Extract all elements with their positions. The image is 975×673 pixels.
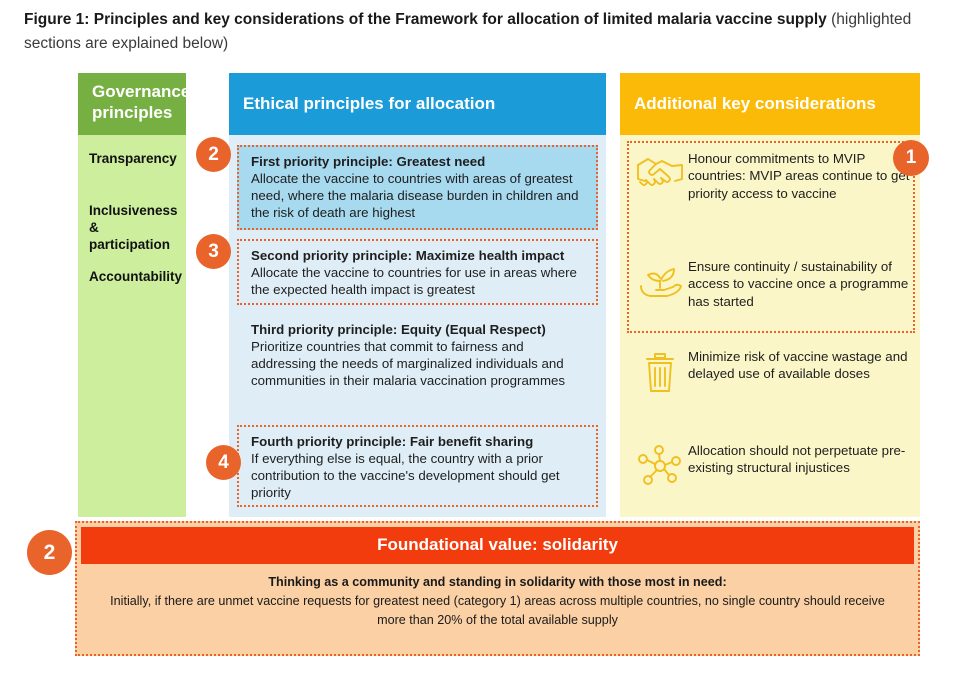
principle-title-fourth: Fourth priority principle: Fair benefit … [251,434,584,451]
consideration-item-injustices: Allocation should not perpetuate pre-exi… [632,440,912,488]
badge-3-second-principle: 3 [196,234,231,269]
principle-card-fourth: Fourth priority principle: Fair benefit … [237,425,598,507]
consideration-item-mvip: Honour commitments to MVIP countries: MV… [632,148,912,202]
principle-body-third: Prioritize countries that commit to fair… [251,339,565,388]
principle-card-third: Third priority principle: Equity (Equal … [237,315,598,413]
foundational-value-body: Thinking as a community and standing in … [81,564,914,629]
foundational-value-title: Foundational value: solidarity [81,527,914,564]
governance-item-inclusiveness: Inclusiveness & participation [89,203,182,254]
consideration-text-continuity: Ensure continuity / sustainability of ac… [688,256,912,310]
foundational-value-block: Foundational value: solidarity Thinking … [75,521,920,656]
principle-card-second: Second priority principle: Maximize heal… [237,239,598,305]
badge-4-fourth-principle: 4 [206,445,241,480]
governance-item-accountability: Accountability [89,269,182,286]
consideration-item-wastage: Minimize risk of vaccine wastage and del… [632,346,912,396]
ethical-column-body: First priority principle: Greatest need … [229,135,606,517]
principle-body-first: Allocate the vaccine to countries with a… [251,171,578,220]
governance-column-body: Transparency Inclusiveness & participati… [78,135,186,517]
consideration-text-wastage: Minimize risk of vaccine wastage and del… [688,346,912,383]
additional-column-header: Additional key considerations [620,73,920,135]
consideration-text-injustices: Allocation should not perpetuate pre-exi… [688,440,912,477]
principle-body-second: Allocate the vaccine to countries for us… [251,265,577,297]
handshake-icon [632,148,688,194]
consideration-text-mvip: Honour commitments to MVIP countries: MV… [688,148,912,202]
foundational-value-detail: Initially, if there are unmet vaccine re… [110,594,885,626]
principle-title-third: Third priority principle: Equity (Equal … [251,322,586,339]
badge-2-first-principle: 2 [196,137,231,172]
badge-2-foundational-value: 2 [27,530,72,575]
trash-bin-icon [632,346,688,396]
ethical-column-header: Ethical principles for allocation [229,73,606,135]
hand-sprout-icon [632,256,688,302]
framework-diagram: Governance principles Ethical principles… [0,68,975,673]
principle-body-fourth: If everything else is equal, the country… [251,451,560,500]
figure-caption: Figure 1: Principles and key considerati… [24,8,924,56]
caption-bold-text: Figure 1: Principles and key considerati… [24,11,827,28]
principle-title-first: First priority principle: Greatest need [251,154,584,171]
principle-title-second: Second priority principle: Maximize heal… [251,248,584,265]
consideration-item-continuity: Ensure continuity / sustainability of ac… [632,256,912,310]
governance-item-transparency: Transparency [89,151,182,168]
badge-1-additional-considerations: 1 [893,140,929,176]
governance-column-header: Governance principles [78,73,186,135]
foundational-value-lead: Thinking as a community and standing in … [107,573,888,591]
network-nodes-icon [632,440,688,488]
principle-card-first: First priority principle: Greatest need … [237,145,598,230]
